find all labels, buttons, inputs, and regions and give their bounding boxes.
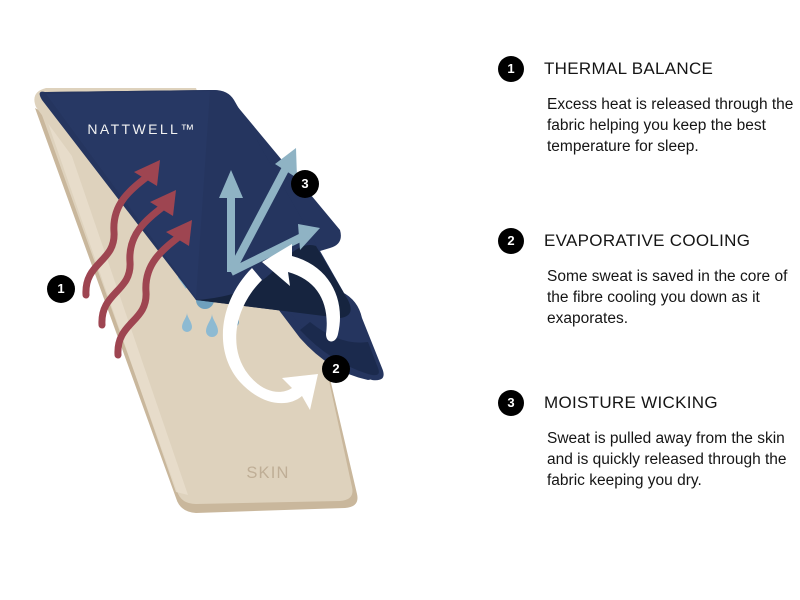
- illustration-badge-2: 2: [322, 355, 350, 383]
- infographic-canvas: NATTWELL™ SKIN: [0, 0, 800, 600]
- feature-title-evaporative-cooling: EVAPORATIVE COOLING: [544, 231, 750, 251]
- feature-body-thermal-balance: Excess heat is released through the fabr…: [547, 94, 797, 157]
- feature-body-moisture-wicking: Sweat is pulled away from the skin and i…: [547, 428, 797, 491]
- illustration-badge-3: 3: [291, 170, 319, 198]
- feature-title-moisture-wicking: MOISTURE WICKING: [544, 393, 718, 413]
- feature-badge-3: 3: [498, 390, 524, 416]
- feature-body-evaporative-cooling: Some sweat is saved in the core of the f…: [547, 266, 797, 329]
- features-list: 1 THERMAL BALANCE Excess heat is release…: [498, 0, 800, 600]
- feature-badge-2: 2: [498, 228, 524, 254]
- feature-title-thermal-balance: THERMAL BALANCE: [544, 59, 713, 79]
- brand-label: NATTWELL™: [87, 121, 196, 137]
- fabric-illustration: NATTWELL™ SKIN: [0, 0, 470, 600]
- skin-label: SKIN: [246, 464, 289, 482]
- illustration-badge-1: 1: [47, 275, 75, 303]
- feature-badge-1: 1: [498, 56, 524, 82]
